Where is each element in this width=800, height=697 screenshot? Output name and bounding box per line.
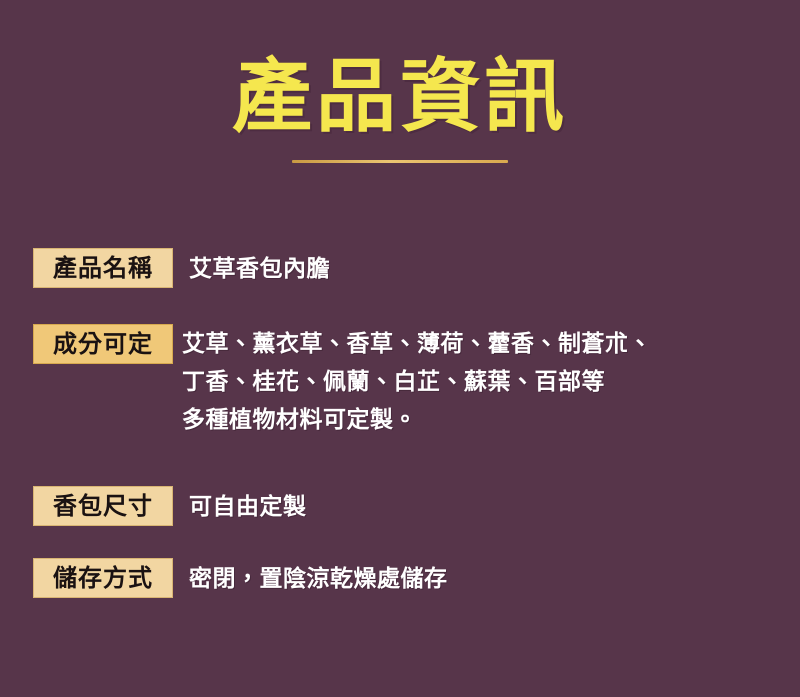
page-title: 產品資訊 xyxy=(0,56,800,138)
title-divider xyxy=(292,160,508,163)
table-row: 儲存方式 密閉，置陰涼乾燥處儲存 xyxy=(0,558,800,598)
row-value-product-name: 艾草香包內膽 xyxy=(173,248,800,288)
title-block: 產品資訊 xyxy=(0,56,800,163)
row-value-ingredients-line-3: 多種植物材料可定製。 xyxy=(182,400,760,438)
row-value-ingredients: 艾草、薰衣草、香草、薄荷、藿香、制蒼朮、 丁香、桂花、佩蘭、白芷、蘇葉、百部等 … xyxy=(173,324,800,438)
row-value-ingredients-line-1: 艾草、薰衣草、香草、薄荷、藿香、制蒼朮、 xyxy=(182,324,760,362)
table-row: 香包尺寸 可自由定製 xyxy=(0,486,800,526)
table-row: 產品名稱 艾草香包內膽 xyxy=(0,248,800,288)
row-label-ingredients: 成分可定 xyxy=(33,324,173,364)
product-info-table: 產品名稱 艾草香包內膽 成分可定 艾草、薰衣草、香草、薄荷、藿香、制蒼朮、 丁香… xyxy=(0,248,800,598)
row-label-size: 香包尺寸 xyxy=(33,486,173,526)
row-value-ingredients-line-2: 丁香、桂花、佩蘭、白芷、蘇葉、百部等 xyxy=(182,362,760,400)
product-info-page: 產品資訊 產品名稱 艾草香包內膽 成分可定 艾草、薰衣草、香草、薄荷、藿香、制蒼… xyxy=(0,0,800,697)
row-value-storage: 密閉，置陰涼乾燥處儲存 xyxy=(173,558,800,598)
row-label-product-name: 產品名稱 xyxy=(33,248,173,288)
row-label-storage: 儲存方式 xyxy=(33,558,173,598)
row-value-size: 可自由定製 xyxy=(173,486,800,526)
table-row: 成分可定 艾草、薰衣草、香草、薄荷、藿香、制蒼朮、 丁香、桂花、佩蘭、白芷、蘇葉… xyxy=(0,324,800,438)
